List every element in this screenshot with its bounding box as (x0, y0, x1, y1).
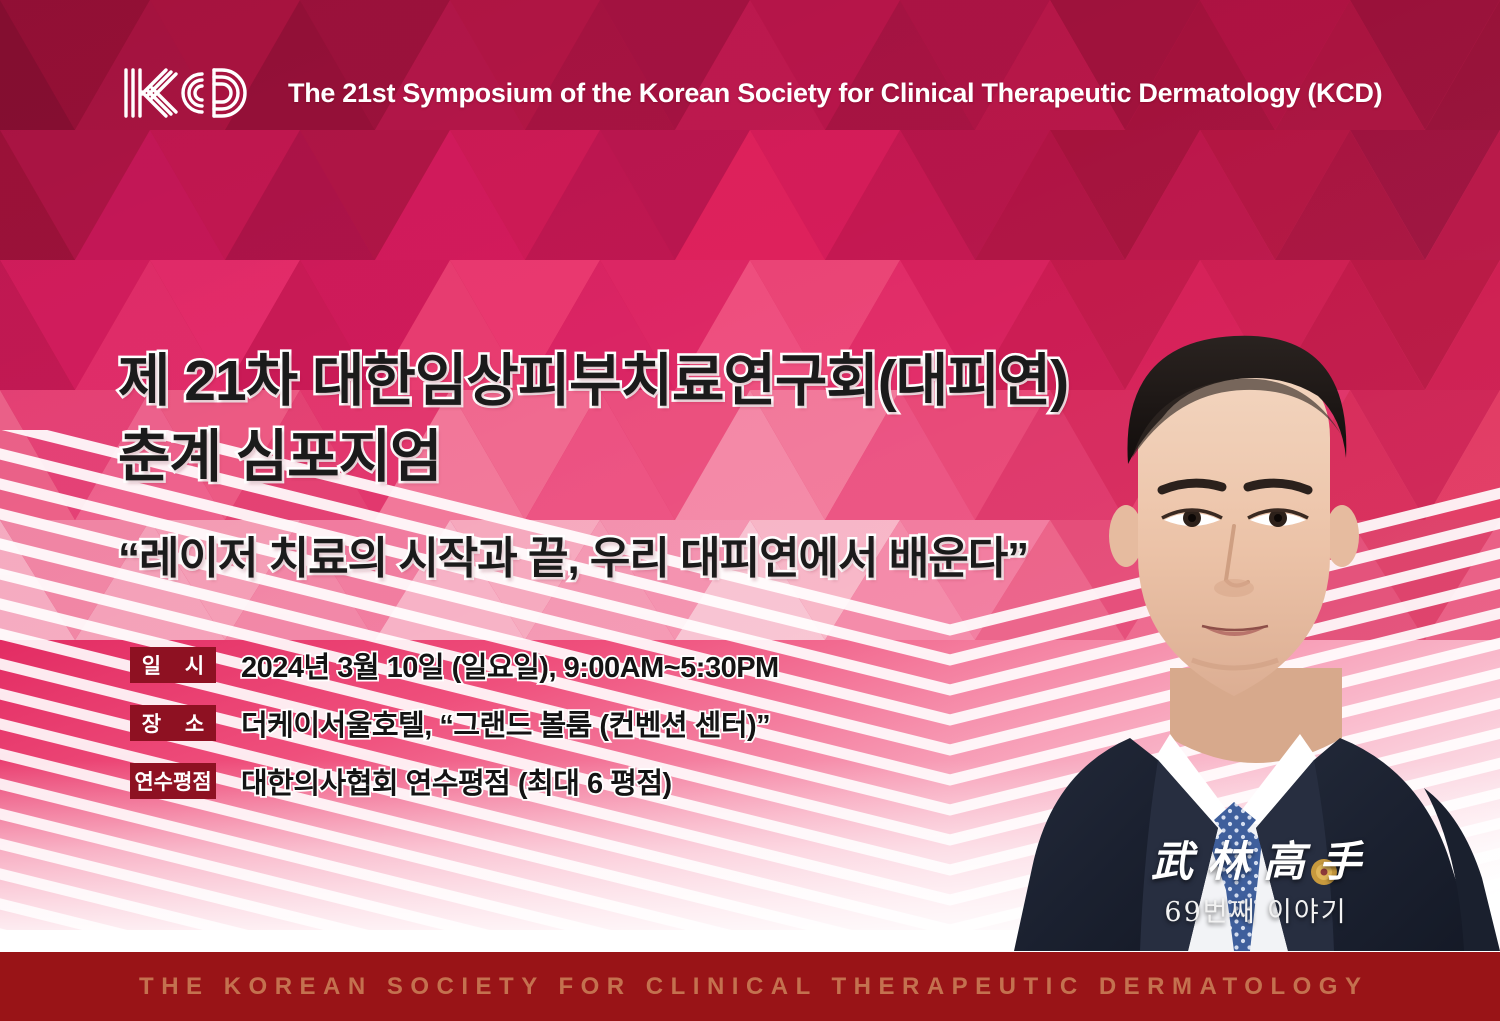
header: The 21st Symposium of the Korean Society… (118, 62, 1382, 124)
info-row-venue: 장 소 더케이서울호텔, “그랜드 볼룸 (컨벤션 센터)” (130, 702, 779, 744)
bottom-banner-text: THE KOREAN SOCIETY FOR CLINICAL THERAPEU… (0, 973, 1500, 1001)
info-badge-venue: 장 소 (130, 705, 216, 741)
speaker-portrait (1012, 268, 1500, 951)
info-row-credits: 연수평점 대한의사협회 연수평점 (최대 6 평점) (130, 760, 779, 802)
info-value-date: 2024년 3월 10일 (일요일), 9:00AM~5:30PM (241, 644, 779, 686)
info-list: 일 시 2024년 3월 10일 (일요일), 9:00AM~5:30PM 장 … (130, 644, 779, 802)
poster-canvas: The 21st Symposium of the Korean Society… (0, 0, 1500, 1021)
info-value-venue: 더케이서울호텔, “그랜드 볼룸 (컨벤션 센터)” (241, 702, 770, 744)
subtitle-quote: “레이저 치료의 시작과 끝, 우리 대피연에서 배운다” (118, 522, 1028, 586)
info-badge-date: 일 시 (130, 647, 216, 683)
info-row-date: 일 시 2024년 3월 10일 (일요일), 9:00AM~5:30PM (130, 644, 779, 686)
kcd-logo-icon (118, 62, 270, 124)
info-badge-credits: 연수평점 (130, 763, 216, 799)
info-value-credits: 대한의사협회 연수평점 (최대 6 평점) (241, 760, 672, 802)
bottom-banner: THE KOREAN SOCIETY FOR CLINICAL THERAPEU… (0, 952, 1500, 1021)
header-title: The 21st Symposium of the Korean Society… (288, 78, 1382, 109)
